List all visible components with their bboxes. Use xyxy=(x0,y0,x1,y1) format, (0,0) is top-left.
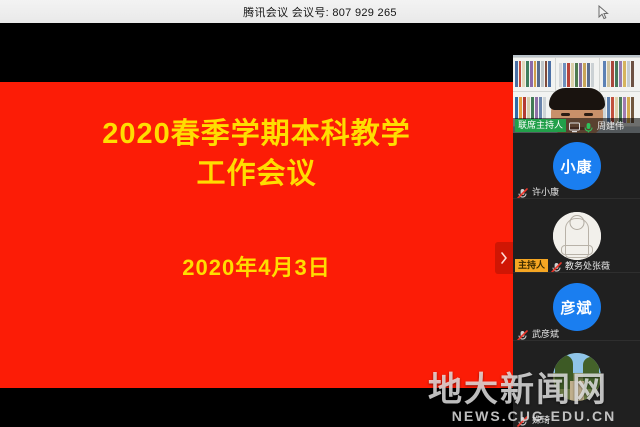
microphone-muted-icon xyxy=(517,328,528,339)
microphone-muted-icon xyxy=(517,186,528,197)
avatar-initials: 彦斌 xyxy=(553,283,601,331)
shared-screen-stage: 2020春季学期本科教学 工作会议 2020年4月3日 xyxy=(0,23,513,427)
participant-label: 武彦斌 xyxy=(513,325,640,341)
collapse-panel-button[interactable] xyxy=(495,242,513,274)
participant-tile-avatar[interactable]: 小康 许小康 xyxy=(513,133,640,199)
screen-share-icon xyxy=(569,120,580,131)
slide-title-line2: 工作会议 xyxy=(0,154,513,194)
participant-label: 姝琦 xyxy=(513,411,640,427)
role-badge-host: 主持人 xyxy=(515,259,548,272)
microphone-on-icon xyxy=(583,120,594,131)
microphone-muted-icon xyxy=(551,260,562,271)
role-badge-cohost: 联席主持人 xyxy=(515,119,566,132)
participant-name: 姝琦 xyxy=(532,413,550,426)
microphone-muted-icon xyxy=(517,414,528,425)
participant-name: 武彦斌 xyxy=(532,327,559,340)
rail-top-spacer xyxy=(513,23,640,55)
window-title: 腾讯会议 会议号: 807 929 265 xyxy=(243,4,397,20)
presentation-slide: 2020春季学期本科教学 工作会议 2020年4月3日 xyxy=(0,82,513,388)
participant-name: 周建伟 xyxy=(597,119,624,132)
participant-label: 许小康 xyxy=(513,183,640,199)
participant-tile-avatar[interactable]: 彦斌 武彦斌 xyxy=(513,273,640,341)
slide-title-line1: 2020春季学期本科教学 xyxy=(102,118,411,150)
slide-date: 2020年4月3日 xyxy=(0,250,513,282)
avatar-photo xyxy=(553,353,601,401)
participant-tile-avatar[interactable]: 姝琦 xyxy=(513,341,640,427)
participant-rail[interactable]: 联席主持人 周建伟 xyxy=(513,23,640,427)
mouse-pointer-icon xyxy=(598,5,609,20)
participant-name: 许小康 xyxy=(532,185,559,198)
chevron-right-icon xyxy=(500,252,508,264)
window-title-bar: 腾讯会议 会议号: 807 929 265 xyxy=(0,0,640,24)
participant-name: 教务处张薇 xyxy=(565,259,610,272)
participant-tile-avatar[interactable]: 主持人 教务处张薇 xyxy=(513,199,640,273)
slide-title: 2020春季学期本科教学 工作会议 xyxy=(0,114,513,194)
participant-label: 联席主持人 周建伟 xyxy=(513,118,640,133)
participant-label: 主持人 教务处张薇 xyxy=(513,258,640,273)
meeting-window: 腾讯会议 会议号: 807 929 265 2020春季学期本科教学 工作会议 … xyxy=(0,0,640,427)
avatar-sketch xyxy=(553,212,601,260)
participant-tile-video[interactable]: 联席主持人 周建伟 xyxy=(513,55,640,133)
